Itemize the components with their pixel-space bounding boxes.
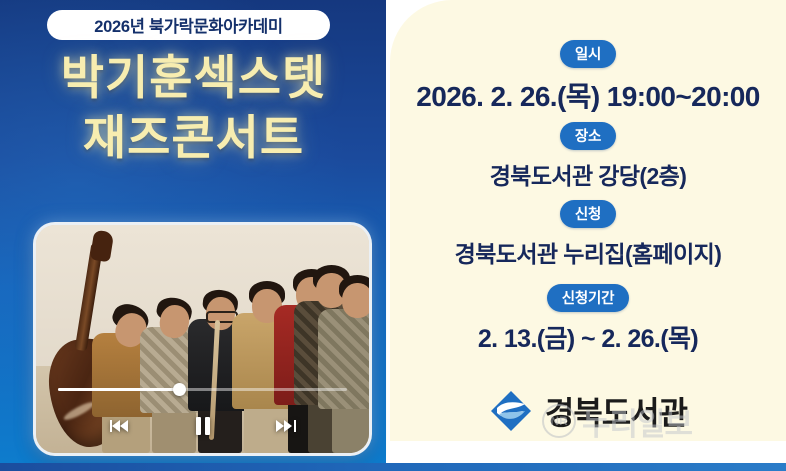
bottom-accent-bar [0, 463, 786, 471]
info-label-datetime: 일시 [560, 40, 616, 68]
musician-7-head [342, 283, 369, 318]
poster-title: 박기훈섹스텟 재즈콘서트 [0, 48, 387, 168]
player-progress-handle[interactable] [173, 383, 186, 396]
library-logo: 경북도서관 [390, 388, 786, 434]
info-value-apply-period: 2. 13.(금) ~ 2. 26.(목) [390, 319, 786, 355]
info-row-apply-period: 신청기간 2. 13.(금) ~ 2. 26.(목) [390, 284, 786, 355]
player-controls [36, 417, 369, 435]
left-blue-panel: 2026년 북가락문화아카데미 박기훈섹스텟 재즈콘서트 [0, 0, 387, 463]
title-line-2: 재즈콘서트 [0, 108, 387, 168]
title-line-1: 박기훈섹스텟 [0, 48, 387, 108]
musician-7-body [318, 309, 369, 409]
info-row-datetime: 일시 2026. 2. 26.(목) 19:00~20:00 [390, 40, 786, 115]
academy-badge: 2026년 북가락문화아카데미 [47, 10, 330, 40]
info-value-datetime: 2026. 2. 26.(목) 19:00~20:00 [390, 75, 786, 115]
skip-previous-icon[interactable] [110, 417, 132, 435]
info-label-place: 장소 [560, 122, 616, 150]
info-value-apply: 경북도서관 누리집(홈페이지) [390, 235, 786, 269]
academy-badge-label: 2026년 북가락문화아카데미 [94, 13, 283, 37]
info-row-apply: 신청 경북도서관 누리집(홈페이지) [390, 200, 786, 269]
info-row-place: 장소 경북도서관 강당(2층) [390, 122, 786, 191]
gyeongbuk-library-emblem-icon [489, 389, 533, 433]
info-label-apply-period: 신청기간 [547, 284, 630, 312]
skip-next-icon[interactable] [274, 417, 296, 435]
right-info-panel: 일시 2026. 2. 26.(목) 19:00~20:00 장소 경북도서관 … [390, 0, 786, 463]
info-label-apply: 신청 [560, 200, 616, 228]
pause-icon[interactable] [192, 417, 214, 435]
info-value-place: 경북도서관 강당(2층) [390, 157, 786, 191]
poster-root: 2026년 북가락문화아카데미 박기훈섹스텟 재즈콘서트 [0, 0, 786, 471]
library-logo-text: 경북도서관 [545, 388, 687, 434]
player-progress-bar[interactable] [58, 388, 347, 391]
band-photo-card[interactable] [33, 222, 372, 456]
player-progress-fill [58, 388, 179, 391]
